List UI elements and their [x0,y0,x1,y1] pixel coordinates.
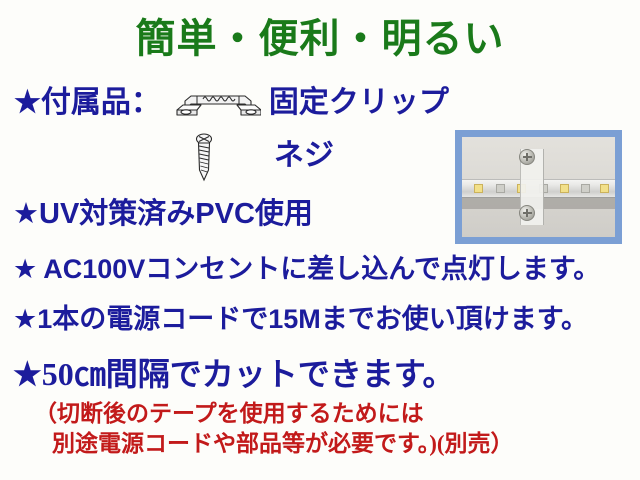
accessory-name-screw: ネジ [274,139,334,172]
led-chip [600,184,609,194]
product-photo-inner [462,137,615,237]
led-chip [560,184,569,194]
page-title: 簡単・便利・明るい [0,16,640,62]
product-photo [455,130,622,244]
led-chip [474,184,483,194]
accessories-label: 付属品： [41,86,161,119]
led-chip [581,184,590,194]
bullet-screw: ネジ [190,132,334,184]
bullet-length-label: 1本の電源コードで15Mまでお使い頂けます。 [37,304,588,334]
led-chip [496,184,505,194]
bullet-uv-label: UV対策済みPVC使用 [39,198,313,230]
bullet-ac-label: AC100Vコンセントに差し込んで点灯します。 [43,254,600,284]
note-line-2: 別途電源コードや部品等が必要です。)(別売） [52,432,514,455]
star-bullet-icon: ★ [14,88,41,118]
bullet-uv: ★UV対策済みPVC使用 [13,200,313,229]
star-bullet-icon: ★ [13,256,37,283]
flyer-page: 簡単・便利・明るい ★付属品： 固定クリップ [0,0,640,480]
bullet-accessories: ★付属品： 固定クリップ [14,88,449,122]
mounting-clip-icon [175,88,261,122]
bullet-cut-label: 50㎝間隔でカットできます。 [42,356,455,392]
star-bullet-icon: ★ [13,358,42,390]
accessory-name-clip: 固定クリップ [269,86,449,119]
bullet-ac-power: ★AC100Vコンセントに差し込んで点灯します。 [13,256,600,283]
star-bullet-icon: ★ [13,306,37,333]
bullet-cut-interval: ★50㎝間隔でカットできます。 [13,358,455,390]
note-line-1: （切断後のテープを使用するためには [34,402,424,425]
wood-screw-icon [190,132,218,184]
bullet-max-length: ★1本の電源コードで15Mまでお使い頂けます。 [13,306,588,333]
star-bullet-icon: ★ [13,200,39,229]
